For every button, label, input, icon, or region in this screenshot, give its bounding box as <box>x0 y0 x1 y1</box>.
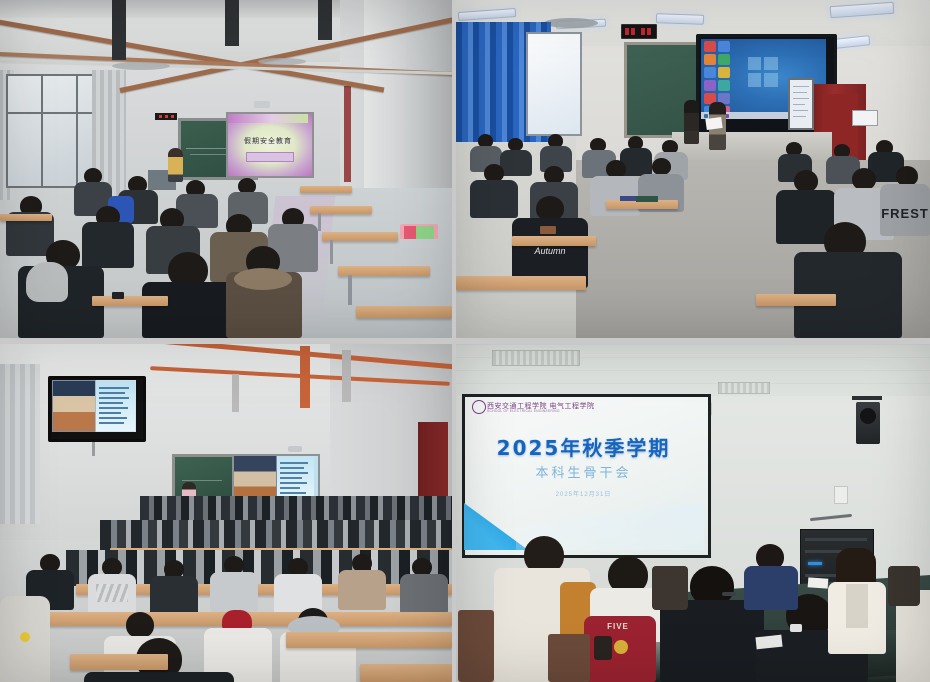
fur-hood <box>234 268 292 290</box>
student-head <box>126 612 154 638</box>
red-knit-hat <box>222 610 252 630</box>
pipe-riser-2 <box>342 350 351 402</box>
book <box>620 196 636 201</box>
logo-wordmark-sub: SCHOOL OF ELECTRICAL ENGINEERING <box>487 409 560 413</box>
logo-mark <box>472 400 486 414</box>
slide-title: 2025年秋季学期 <box>462 432 705 461</box>
printed-sheet <box>705 117 722 130</box>
student-head <box>896 166 918 186</box>
hood <box>26 262 68 302</box>
left-window-curtain <box>0 364 40 524</box>
desk <box>322 232 398 241</box>
student-body <box>82 222 134 268</box>
pipe-riser-3 <box>232 374 239 412</box>
ceiling-column-2 <box>225 0 239 46</box>
student-body <box>400 574 448 614</box>
laptop-screen-content <box>404 226 434 239</box>
chalk-writing <box>182 480 222 481</box>
ceiling-fan <box>112 62 170 70</box>
slide-header-band <box>228 114 308 123</box>
tv-slide-photo-collage <box>53 381 95 431</box>
student-body <box>500 150 532 176</box>
student-head <box>652 158 671 175</box>
jacket-graphic <box>96 584 128 602</box>
attendee-body <box>744 566 798 610</box>
student-head <box>852 168 876 190</box>
student-head <box>794 170 818 192</box>
smiley-badge <box>20 632 30 642</box>
desk <box>512 236 596 246</box>
jacket-patch <box>540 226 556 234</box>
student-leaders-meeting-scene: 西安交通工程学院 电气工程学院 SCHOOL OF ELECTRICAL ENG… <box>456 344 930 682</box>
ceiling-fan <box>544 18 598 28</box>
student-crowd-far-2 <box>100 520 452 550</box>
air-vent <box>718 382 770 394</box>
windows-logo-watermark <box>748 57 778 87</box>
classroom-safety-lecture-scene: 假期安全教育 <box>0 0 452 338</box>
jacket-text: FIVE <box>586 622 650 631</box>
pipe-riser-1 <box>300 346 310 408</box>
student-body <box>84 672 234 682</box>
phone <box>112 292 124 299</box>
wall-outlet <box>834 486 848 504</box>
vest-graphic <box>594 636 612 660</box>
led-sign <box>155 113 177 120</box>
attendee-body <box>660 600 764 682</box>
bench-desk <box>360 664 452 682</box>
vest-badge <box>614 640 628 654</box>
book-stack <box>636 196 658 202</box>
ceiling-fan-2 <box>258 58 306 65</box>
projector <box>254 101 270 108</box>
presenter <box>168 148 183 182</box>
student-body <box>210 572 258 612</box>
photo-panel-bottom-left[interactable] <box>0 344 452 682</box>
window <box>526 32 582 136</box>
bench-desk <box>286 632 452 648</box>
desk-leg <box>318 213 321 231</box>
desk-leg <box>348 275 352 305</box>
desk <box>756 294 836 306</box>
photo-panel-top-left[interactable]: 假期安全教育 <box>0 0 452 338</box>
led-clock <box>621 24 657 39</box>
student-body <box>470 180 518 218</box>
photo-panel-top-right[interactable]: Autumn FREST <box>456 0 930 338</box>
ceiling-column-3 <box>318 0 332 40</box>
document <box>808 577 829 588</box>
slide-title: 假期安全教育 <box>226 136 310 146</box>
red-wall-strip <box>344 86 351 182</box>
wall-speaker <box>856 402 880 444</box>
speaker-inner-top <box>846 584 868 628</box>
photo-collage: 假期安全教育 <box>0 0 930 682</box>
bench-desk <box>70 654 168 670</box>
desk-leg <box>330 240 333 264</box>
classroom-smartboard-meeting-scene: Autumn FREST <box>456 0 930 338</box>
slide-subtitle: 本科生骨干会 <box>462 462 705 481</box>
desk <box>0 214 52 221</box>
projector <box>288 446 302 452</box>
student-body <box>150 576 198 616</box>
ceiling-light <box>656 13 704 25</box>
tv-slide-text-panel <box>96 381 135 431</box>
slide-subtitle-bar <box>246 152 294 162</box>
air-vent <box>492 350 580 366</box>
rack-status-led <box>808 562 822 565</box>
hair-clip <box>790 624 802 632</box>
lecture-hall-assembly-scene <box>0 344 452 682</box>
chair-back <box>888 566 920 606</box>
photo-panel-bottom-right[interactable]: 西安交通工程学院 电气工程学院 SCHOOL OF ELECTRICAL ENG… <box>456 344 930 682</box>
desk <box>456 276 586 290</box>
jacket-text: Autumn <box>518 246 582 256</box>
eyeglasses <box>722 592 736 596</box>
wall-poster <box>852 110 878 126</box>
desk <box>300 186 352 193</box>
ceiling-column-1 <box>112 0 126 60</box>
notice-board <box>788 78 814 130</box>
desk <box>356 306 452 318</box>
slide-institution-logo: 西安交通工程学院 电气工程学院 SCHOOL OF ELECTRICAL ENG… <box>472 400 568 413</box>
chair <box>458 610 494 682</box>
student-body <box>338 570 386 610</box>
chair-back <box>652 566 688 610</box>
presenter-1 <box>684 100 699 144</box>
desk <box>92 296 168 306</box>
slide-date: 2025年12月31日 <box>462 489 705 498</box>
speaker-bracket <box>852 396 882 400</box>
chair <box>548 634 590 682</box>
jacket-text: FREST <box>880 206 930 221</box>
